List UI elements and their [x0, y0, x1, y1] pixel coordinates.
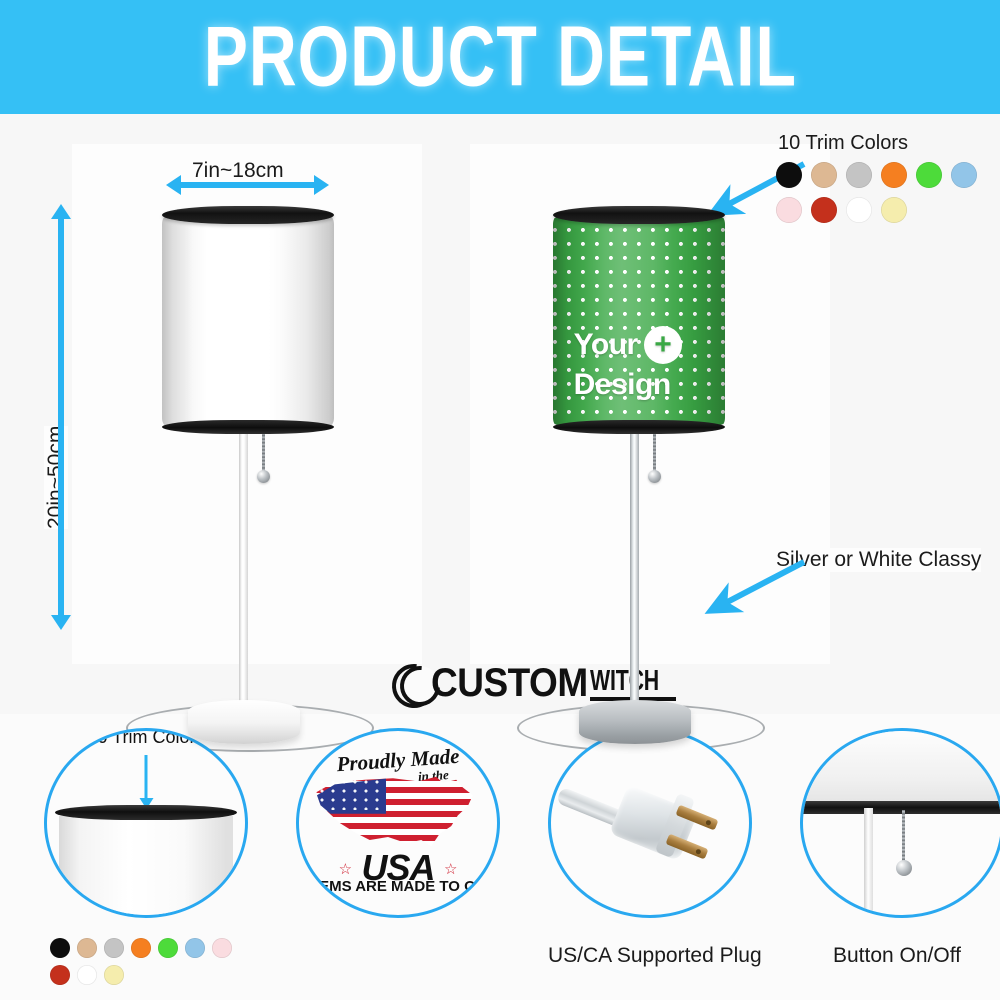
- trim-swatch-white[interactable]: [846, 197, 872, 223]
- trim-swatch-green[interactable]: [916, 162, 942, 188]
- plug-prong-hole: [705, 819, 712, 826]
- lamp-base-white: [188, 700, 300, 744]
- lampshade-surface: [162, 214, 334, 428]
- usa-subtitle-text: ALL ITEMS ARE MADE TO ORDER!: [296, 878, 500, 895]
- trim-swatch-yellow[interactable]: [104, 965, 124, 985]
- trim-swatch-orange[interactable]: [881, 162, 907, 188]
- feature-circle-trim-colors: 10 Trim Colors: [44, 728, 248, 918]
- trim-swatch-black[interactable]: [776, 162, 802, 188]
- trim-swatch-gray[interactable]: [846, 162, 872, 188]
- pull-chain[interactable]: [262, 432, 265, 474]
- main-product-panel: 7in~18cm 20in~50cm: [0, 114, 1000, 714]
- product-detail-infographic: PRODUCT DETAIL 7in~18cm 20in~50cm: [0, 0, 1000, 1000]
- header-banner: PRODUCT DETAIL: [0, 0, 1000, 114]
- logo-c-mark-icon: [392, 664, 430, 702]
- trim-swatch-yellow[interactable]: [881, 197, 907, 223]
- usa-flag-stars: [319, 779, 382, 810]
- trim-colors-title-bottom: 10 Trim Colors: [87, 728, 204, 748]
- trim-color-swatches-top[interactable]: [776, 162, 1000, 223]
- height-dimension-label: 20in~50cm: [44, 426, 68, 529]
- logo-witch-text: WITCH: [590, 663, 661, 698]
- lampshade-trim-top: [553, 206, 725, 224]
- trim-swatch-gray[interactable]: [104, 938, 124, 958]
- trim-color-swatches-bottom[interactable]: [50, 938, 250, 985]
- usa-star-left-icon: ☆: [339, 860, 352, 878]
- lampshade-surface-green: Your+ Design: [553, 214, 725, 428]
- design-text-your: Your: [574, 328, 638, 361]
- trim-swatch-light-blue[interactable]: [951, 162, 977, 188]
- width-dimension-arrow: [180, 182, 315, 188]
- pull-chain-ball[interactable]: [648, 470, 661, 483]
- trim-swatch-orange[interactable]: [131, 938, 151, 958]
- mini-lamp-pole: [864, 808, 873, 915]
- width-dimension-label: 7in~18cm: [192, 159, 284, 183]
- lamp-base-silver: [579, 700, 691, 744]
- page-title: PRODUCT DETAIL: [203, 9, 796, 106]
- trim-swatch-red[interactable]: [50, 965, 70, 985]
- lampshade-white: [162, 206, 334, 434]
- base-finish-pointer-arrow: [696, 554, 808, 618]
- feature-circle-button: [800, 728, 1000, 918]
- pull-chain-ball[interactable]: [257, 470, 270, 483]
- pull-chain[interactable]: [653, 432, 656, 474]
- feature-circle-plug: [548, 728, 752, 918]
- usa-star-right-icon: ☆: [444, 860, 457, 878]
- trim-swatch-red[interactable]: [811, 197, 837, 223]
- design-line-2: Design: [574, 370, 682, 400]
- mini-lampshade-body: [59, 816, 233, 915]
- mini-pull-chain-ball[interactable]: [896, 860, 912, 876]
- trim-swatch-pink[interactable]: [776, 197, 802, 223]
- design-line-1: Your+: [574, 326, 682, 366]
- design-placeholder: Your+ Design: [574, 326, 682, 400]
- trim-swatch-tan[interactable]: [77, 938, 97, 958]
- lampshade-trim-bottom: [162, 420, 334, 434]
- trim-swatch-light-blue[interactable]: [185, 938, 205, 958]
- feature-label-plug: US/CA Supported Plug: [548, 944, 752, 968]
- feature-circle-made-in-usa: Proudly Made in the ☆ USA ☆ ALL ITEMS AR…: [296, 728, 500, 918]
- add-design-plus-icon[interactable]: +: [644, 326, 682, 364]
- lampshade-trim-bottom: [553, 420, 725, 434]
- plug-prong-hole: [695, 848, 702, 855]
- trim-colors-down-arrow: [145, 755, 148, 799]
- lamp-pole: [239, 432, 248, 714]
- trim-swatch-pink[interactable]: [212, 938, 232, 958]
- mini-lampshade-trim: [55, 805, 237, 820]
- mini-lampshade-trim: [800, 801, 1000, 814]
- trim-swatch-black[interactable]: [50, 938, 70, 958]
- trim-colors-title-top: 10 Trim Colors: [778, 132, 908, 155]
- mini-lampshade-surface: [803, 731, 1000, 801]
- lampshade-trim-top: [162, 206, 334, 224]
- trim-swatch-white[interactable]: [77, 965, 97, 985]
- lamp-pole-silver: [630, 432, 639, 714]
- mini-pull-chain[interactable]: [902, 810, 905, 862]
- trim-swatch-tan[interactable]: [811, 162, 837, 188]
- lampshade-gloss: [162, 214, 334, 428]
- height-dimension-arrow: [58, 218, 64, 616]
- feature-label-button: Button On/Off: [795, 944, 999, 968]
- lampshade-design: Your+ Design: [553, 206, 725, 434]
- trim-swatch-green[interactable]: [158, 938, 178, 958]
- logo-custom-text: CUSTOM: [431, 660, 588, 705]
- design-text-design: Design: [574, 368, 671, 401]
